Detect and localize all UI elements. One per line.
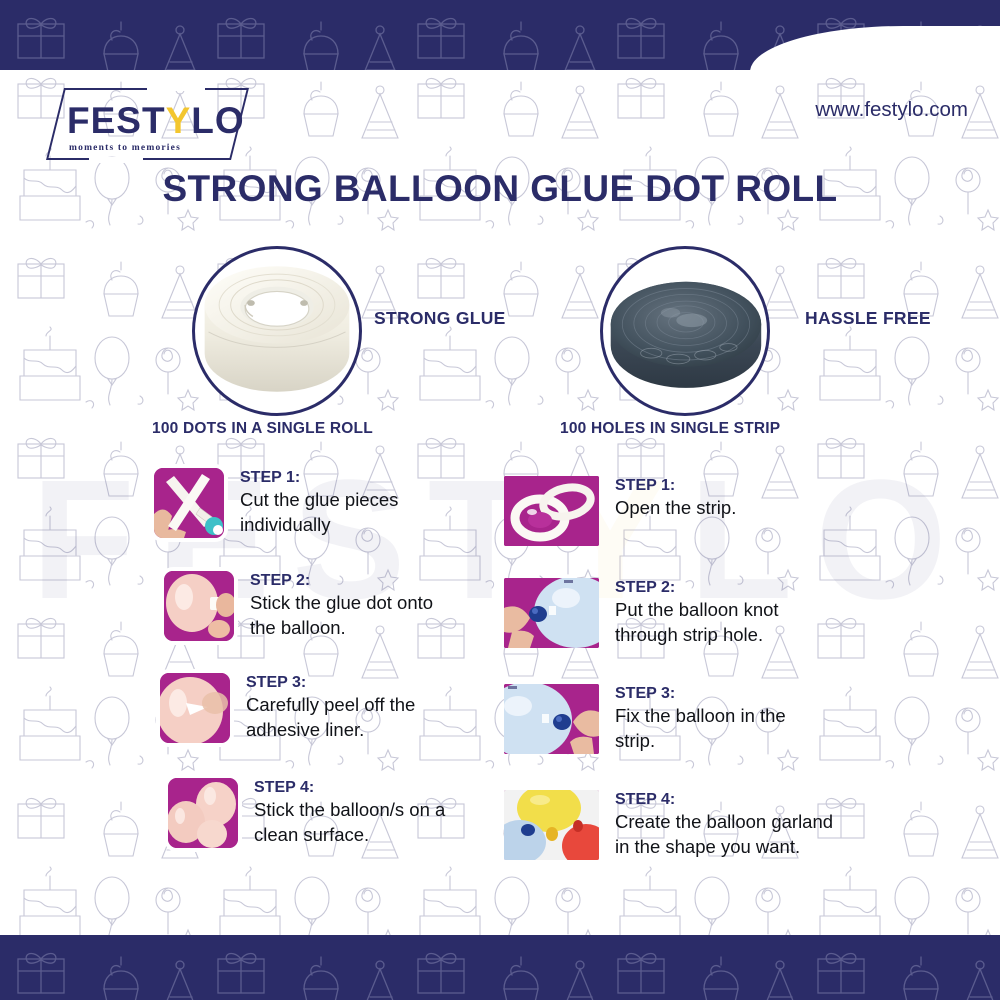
step-label: STEP 1:: [240, 468, 398, 488]
step-thumbnail-balloons-surface: [168, 778, 238, 848]
page-title: STRONG BALLOON GLUE DOT ROLL: [0, 168, 1000, 210]
step-label: STEP 1:: [615, 476, 736, 496]
step-item: STEP 3: Fix the balloon in the strip.: [504, 684, 786, 754]
step-thumbnail-glue-on-balloon: [164, 571, 234, 641]
glue-dot-roll-image: [195, 249, 359, 413]
hero-balloon-strip: HASSLE FREE: [600, 246, 770, 416]
step-label: STEP 4:: [615, 790, 833, 810]
logo-wordmark: FESTYLO: [67, 102, 245, 139]
infographic-page: FESTYLO: [0, 0, 1000, 1000]
step-thumbnail-scissors: [154, 468, 224, 538]
hero-caption-holes: 100 HOLES IN SINGLE STRIP: [560, 420, 780, 438]
step-thumbnail-knot-through-hole: [504, 578, 599, 648]
glue-dot-roll-circle: [192, 246, 362, 416]
step-body: Create the balloon garland in the shape …: [615, 810, 833, 860]
balloon-strip-image: [603, 249, 767, 413]
logo-tagline: moments to memories: [69, 143, 181, 153]
logo-frame-gap-bottom: [89, 157, 143, 163]
step-body: Fix the balloon in the strip.: [615, 704, 786, 754]
balloon-strip-circle: [600, 246, 770, 416]
step-thumbnail-fix-balloon: [504, 684, 599, 754]
step-thumbnail-peel-liner: [160, 673, 230, 743]
hero-label-strong-glue: STRONG GLUE: [374, 308, 506, 329]
step-body: Stick the balloon/s on a clean surface.: [254, 798, 445, 848]
hero-caption-dots: 100 DOTS IN A SINGLE ROLL: [152, 420, 373, 438]
bottom-band-doodle: [0, 935, 1000, 1000]
step-body: Open the strip.: [615, 496, 736, 521]
step-body: Carefully peel off the adhesive liner.: [246, 693, 415, 743]
balloon-garland-icon: [504, 790, 599, 860]
step-body: Stick the glue dot onto the balloon.: [250, 591, 433, 641]
step-item: STEP 3: Carefully peel off the adhesive …: [160, 673, 415, 743]
step-item: STEP 2: Put the balloon knot through str…: [504, 578, 779, 648]
festylo-logo[interactable]: FESTYLO moments to memories: [55, 88, 240, 160]
step-item: STEP 1: Open the strip.: [504, 476, 736, 546]
bottom-navy-band: [0, 935, 1000, 1000]
peel-liner-icon: [160, 673, 230, 743]
website-url[interactable]: www.festylo.com: [815, 98, 968, 122]
step-thumbnail-balloon-garland: [504, 790, 599, 860]
hero-glue-dot-roll: STRONG GLUE: [192, 246, 362, 416]
step-thumbnail-open-strip: [504, 476, 599, 546]
step-label: STEP 2:: [250, 571, 433, 591]
step-label: STEP 3:: [246, 673, 415, 693]
pink-balloons-icon: [168, 778, 238, 848]
glue-dot-on-balloon-icon: [164, 571, 234, 641]
step-label: STEP 2:: [615, 578, 779, 598]
fix-balloon-icon: [504, 684, 599, 754]
step-item: STEP 1: Cut the glue pieces individually: [154, 468, 398, 538]
step-item: STEP 4: Stick the balloon/s on a clean s…: [168, 778, 445, 848]
hero-label-hassle-free: HASSLE FREE: [805, 308, 931, 329]
logo-frame-gap-top: [147, 85, 205, 91]
open-strip-icon: [504, 476, 599, 546]
top-navy-band: [0, 0, 1000, 70]
step-label: STEP 3:: [615, 684, 786, 704]
step-body: Cut the glue pieces individually: [240, 488, 398, 538]
festylo-watermark: FESTYLO: [0, 455, 1000, 625]
scissors-cutting-icon: [154, 468, 224, 538]
step-body: Put the balloon knot through strip hole.: [615, 598, 779, 648]
step-item: STEP 2: Stick the glue dot onto the ball…: [164, 571, 433, 641]
balloon-knot-icon: [504, 578, 599, 648]
step-item: STEP 4: Create the balloon garland in th…: [504, 790, 833, 860]
step-label: STEP 4:: [254, 778, 445, 798]
